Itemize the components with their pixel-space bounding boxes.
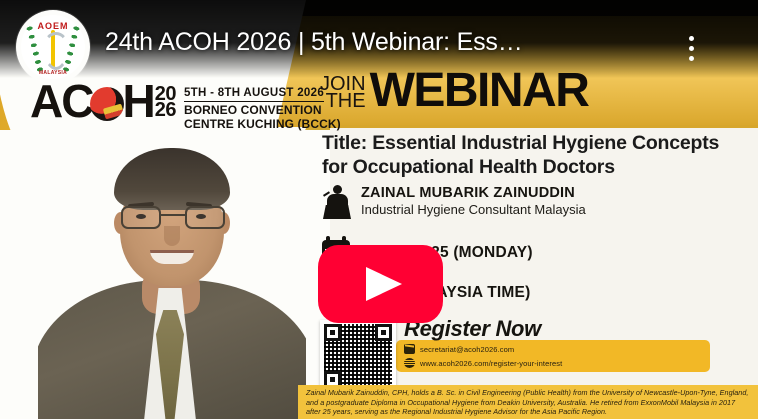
video-thumbnail: ACH 20 26 5TH - 8TH AUGUST 2026 BORNEO C… <box>0 0 758 419</box>
join-the-text: JOIN THE <box>320 76 366 110</box>
acoh-wordmark: ACH <box>30 80 154 122</box>
talk-title: Title: Essential Industrial Hygiene Conc… <box>322 131 747 179</box>
speaker-role: Industrial Hygiene Consultant Malaysia <box>361 202 586 218</box>
event-venue-line1: BORNEO CONVENTION <box>184 104 341 117</box>
hornbill-icon <box>90 87 124 121</box>
talk-title-line1: Title: Essential Industrial Hygiene Conc… <box>322 131 747 155</box>
contact-email: secretariat@acoh2026.com <box>420 345 514 354</box>
speaker-bio-strip: Zainal Mubarik Zainuddin, CPH, holds a B… <box>298 385 758 419</box>
speaker-photo <box>38 128 306 419</box>
podium-speaker-icon <box>322 185 352 219</box>
webinar-banner: JOIN THE WEBINAR <box>320 70 588 112</box>
youtube-video-player[interactable]: ACH 20 26 5TH - 8TH AUGUST 2026 BORNEO C… <box>0 0 758 419</box>
contact-website-row: www.acoh2026.com/register-your-interest <box>404 358 562 368</box>
speaker-bio-text: Zainal Mubarik Zainuddin, CPH, holds a B… <box>306 388 750 417</box>
speaker-info: ZAINAL MUBARIK ZAINUDDIN Industrial Hygi… <box>322 185 586 219</box>
contact-website: www.acoh2026.com/register-your-interest <box>420 359 562 368</box>
play-button[interactable] <box>318 245 443 323</box>
mail-icon <box>404 344 415 354</box>
more-options-icon[interactable] <box>676 30 706 66</box>
event-dates: 5TH - 8TH AUGUST 2026 <box>184 87 324 102</box>
talk-title-line2: for Occupational Health Doctors <box>322 155 747 179</box>
poster-top-dark-strip <box>255 0 758 16</box>
contact-email-row: secretariat@acoh2026.com <box>404 344 514 354</box>
poster-band-divider <box>310 125 758 128</box>
webinar-wordmark: WEBINAR <box>370 70 589 112</box>
globe-icon <box>404 358 415 368</box>
speaker-name: ZAINAL MUBARIK ZAINUDDIN <box>361 185 586 202</box>
channel-avatar[interactable]: AOEM MALAYSIA <box>16 10 90 84</box>
acoh-event-meta: 5TH - 8TH AUGUST 2026 BORNEO CONVENTION … <box>184 86 341 131</box>
event-venue-line2: CENTRE KUCHING (BCCK) <box>184 118 341 131</box>
channel-logo-bottom-text: MALAYSIA <box>16 70 90 76</box>
video-title[interactable]: 24th ACOH 2026 | 5th Webinar: Ess… <box>105 27 650 57</box>
acoh-year: 20 26 <box>155 86 176 118</box>
channel-logo-top-text: AOEM <box>16 21 90 31</box>
acoh-event-logo: ACH 20 26 5TH - 8TH AUGUST 2026 BORNEO C… <box>30 80 341 131</box>
registration-qr-code <box>320 320 396 392</box>
